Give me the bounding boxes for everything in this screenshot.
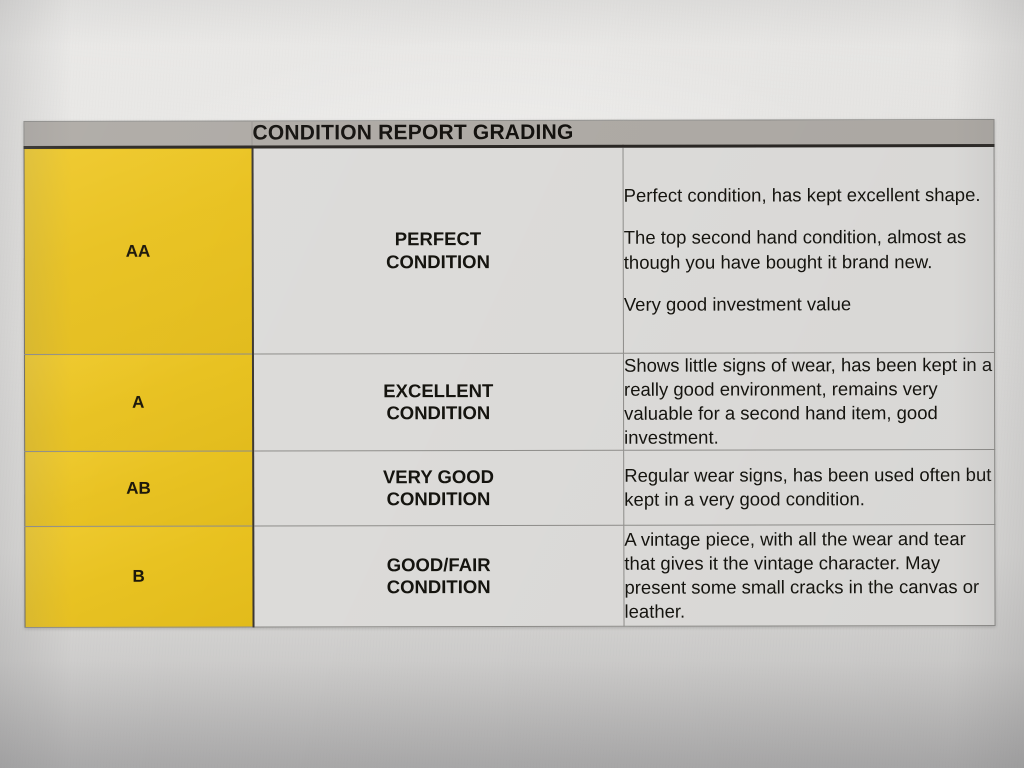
description-paragraph: The top second hand condition, almost as…: [624, 225, 994, 274]
description-b: A vintage piece, with all the wear and t…: [624, 525, 995, 627]
page-title: CONDITION REPORT GRADING: [252, 119, 994, 147]
description-paragraph: A vintage piece, with all the wear and t…: [624, 527, 994, 624]
condition-label-line1: VERY GOOD: [383, 466, 494, 487]
condition-label-line1: EXCELLENT: [383, 380, 493, 401]
table-body: AA PERFECT CONDITION Perfect condition, …: [24, 145, 995, 627]
condition-label-aa: PERFECT CONDITION: [252, 146, 623, 354]
header-blank-cell: [24, 121, 252, 147]
grade-code-a: A: [24, 354, 252, 452]
table-header: CONDITION REPORT GRADING: [24, 119, 994, 147]
condition-label-line2: CONDITION: [387, 488, 491, 509]
table-row: B GOOD/FAIR CONDITION A vintage piece, w…: [25, 525, 995, 628]
condition-label-line1: GOOD/FAIR: [387, 554, 491, 575]
condition-label-a: EXCELLENT CONDITION: [252, 353, 623, 451]
description-aa: Perfect condition, has kept excellent sh…: [623, 145, 994, 353]
table-row: AB VERY GOOD CONDITION Regular wear sign…: [25, 450, 995, 527]
grade-code-ab: AB: [25, 451, 253, 526]
condition-label-ab: VERY GOOD CONDITION: [253, 450, 624, 526]
grade-code-aa: AA: [24, 147, 252, 354]
description-a: Shows little signs of wear, has been kep…: [623, 352, 994, 450]
table-row: A EXCELLENT CONDITION Shows little signs…: [24, 352, 994, 451]
condition-label-line2: CONDITION: [386, 251, 490, 272]
condition-label-line1: PERFECT: [395, 228, 481, 249]
description-paragraph: Shows little signs of wear, has been kep…: [624, 353, 994, 450]
condition-label-line2: CONDITION: [386, 402, 490, 423]
condition-report-grading-table: CONDITION REPORT GRADING AA PERFECT COND…: [23, 119, 995, 628]
description-paragraph: Very good investment value: [624, 292, 994, 317]
description-ab: Regular wear signs, has been used often …: [624, 450, 995, 526]
table-row: AA PERFECT CONDITION Perfect condition, …: [24, 145, 994, 354]
description-paragraph: Regular wear signs, has been used often …: [624, 463, 994, 512]
description-paragraph: Perfect condition, has kept excellent sh…: [624, 183, 994, 208]
grade-code-b: B: [25, 526, 253, 627]
table-header-row: CONDITION REPORT GRADING: [24, 119, 994, 147]
condition-label-b: GOOD/FAIR CONDITION: [253, 525, 624, 627]
condition-label-line2: CONDITION: [387, 576, 491, 597]
